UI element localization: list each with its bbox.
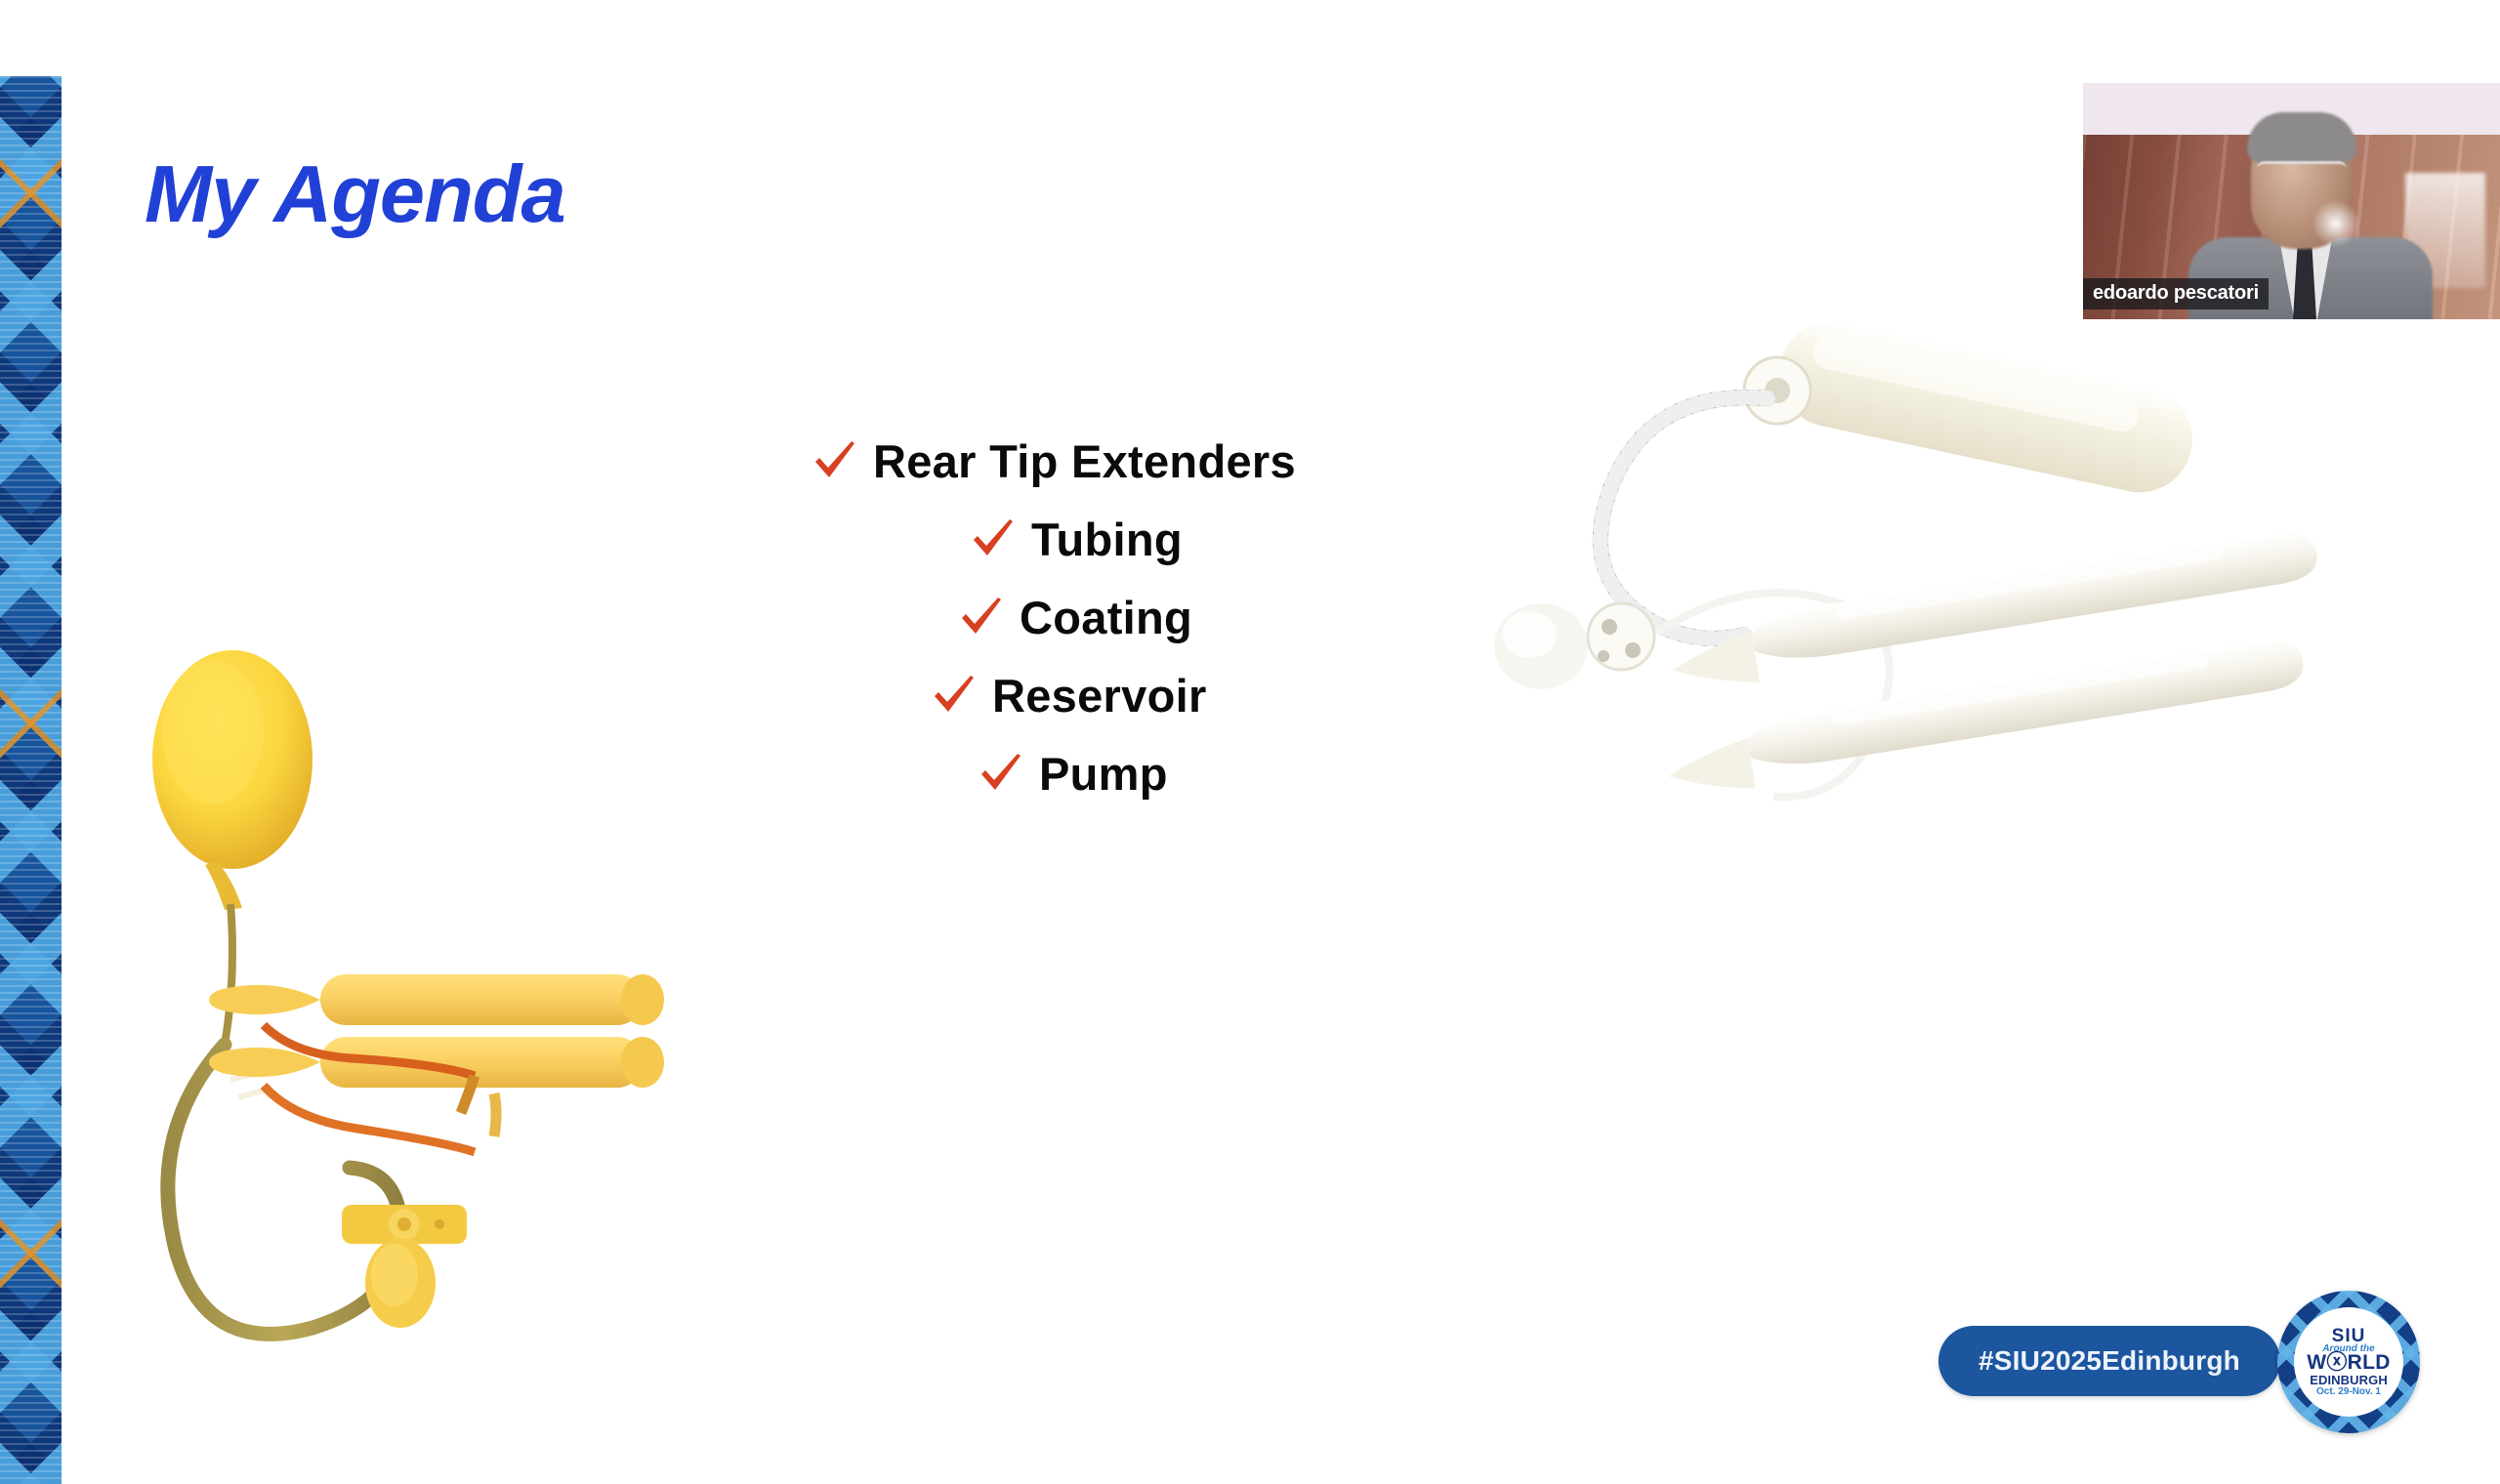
- agenda-item-tubing: Tubing: [967, 500, 1445, 578]
- agenda-item-rear-tip-extenders: Rear Tip Extenders: [809, 422, 1445, 500]
- agenda-item-label: Pump: [1039, 747, 1168, 801]
- agenda-item-label: Rear Tip Extenders: [873, 434, 1296, 488]
- siu-logo-line-3: WⓧRLD: [2307, 1352, 2390, 1373]
- tartan-sidebar-decoration: [0, 76, 62, 1484]
- agenda-item-pump: Pump: [975, 734, 1445, 812]
- webcam-light-glare: [2313, 198, 2358, 249]
- red-check-icon: [955, 592, 1006, 642]
- webcam-participant-name: edoardo pescatori: [2093, 282, 2259, 304]
- webcam-participant-tile[interactable]: edoardo pescatori: [2083, 83, 2500, 319]
- siu-logo-line-5: Oct. 29-Nov. 1: [2316, 1387, 2381, 1397]
- hashtag-badge: #SIU2025Edinburgh: [1938, 1326, 2280, 1396]
- presentation-slide: My Agenda Rear Tip Extenders Tubing: [0, 0, 2500, 1484]
- siu-congress-logo-badge: SIU Around the WⓧRLD EDINBURGH Oct. 29-N…: [2277, 1291, 2420, 1433]
- webcam-name-bar: edoardo pescatori: [2083, 278, 2269, 309]
- red-check-icon: [809, 435, 859, 486]
- webcam-person-hair: [2247, 112, 2356, 163]
- red-check-icon: [967, 514, 1018, 564]
- siu-logo-line-4: EDINBURGH: [2310, 1374, 2388, 1386]
- agenda-list: Rear Tip Extenders Tubing Coating: [684, 422, 1445, 812]
- agenda-item-reservoir: Reservoir: [928, 656, 1445, 734]
- yellow-penile-implant-image: [107, 586, 713, 1396]
- agenda-item-label: Coating: [1020, 591, 1192, 644]
- red-check-icon: [928, 670, 979, 721]
- red-check-icon: [975, 748, 1025, 799]
- white-penile-implant-image: [1484, 273, 2471, 840]
- page-title: My Agenda: [145, 147, 565, 241]
- agenda-item-coating: Coating: [955, 578, 1445, 656]
- agenda-item-label: Tubing: [1031, 513, 1183, 566]
- siu-badge-inner: SIU Around the WⓧRLD EDINBURGH Oct. 29-N…: [2294, 1307, 2403, 1417]
- webcam-person-glasses: [2257, 161, 2347, 184]
- agenda-item-label: Reservoir: [992, 669, 1207, 722]
- hashtag-text: #SIU2025Edinburgh: [1979, 1345, 2240, 1377]
